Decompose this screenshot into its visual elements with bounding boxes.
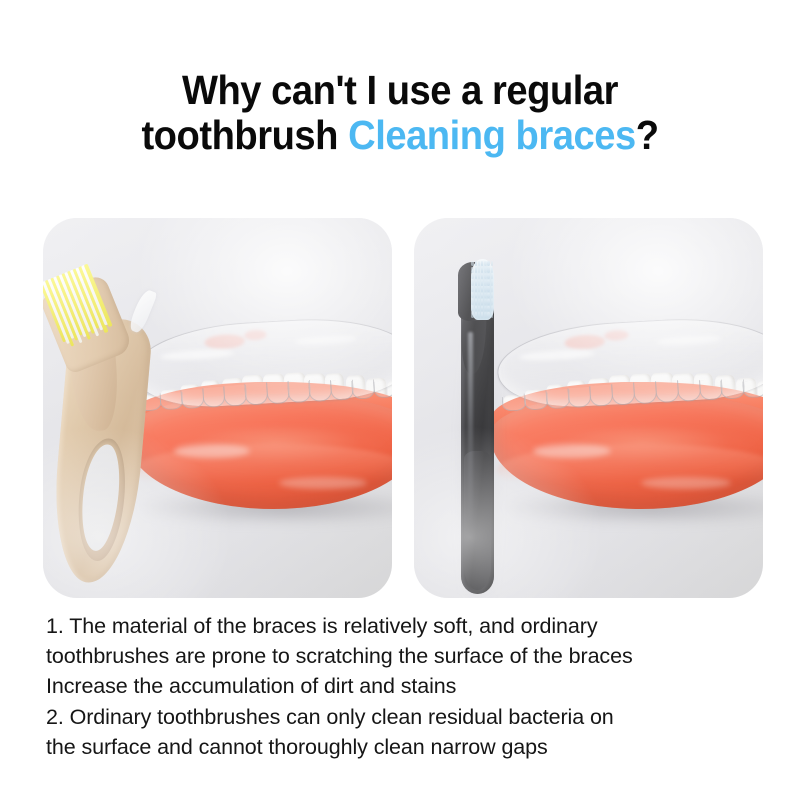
black-toothbrush-bristle xyxy=(484,293,486,299)
aligner-scallop xyxy=(698,379,722,401)
black-toothbrush-bristle xyxy=(475,312,477,318)
tooth xyxy=(566,380,589,434)
black-toothbrush-bristle xyxy=(481,274,483,280)
denture-brush-bristle xyxy=(50,277,78,341)
denture-brush-bristles xyxy=(43,263,114,350)
denture-brush-bristle xyxy=(43,282,66,342)
denture-brush-end-tuft xyxy=(127,288,157,334)
black-toothbrush-bristle xyxy=(481,261,483,267)
teeth-arch xyxy=(498,366,763,439)
page-title: Why can't I use a regular toothbrush Cle… xyxy=(0,68,800,158)
black-toothbrush-bristle xyxy=(471,312,473,318)
dental-model-right xyxy=(491,321,763,526)
tooth xyxy=(608,375,633,433)
description-line-5: the surface and cannot thoroughly clean … xyxy=(46,732,776,762)
photo-panel-row xyxy=(43,218,763,598)
black-toothbrush-bristle xyxy=(487,267,489,273)
gum-specular-2 xyxy=(641,477,731,489)
black-toothbrush-bristle xyxy=(487,293,489,299)
black-toothbrush-bristle xyxy=(471,299,473,305)
description-line-3: Increase the accumulation of dirt and st… xyxy=(46,671,776,701)
tooth xyxy=(139,394,160,433)
description-line-4: 2. Ordinary toothbrushes can only clean … xyxy=(46,702,776,732)
aligner-scallop xyxy=(330,379,354,401)
black-toothbrush-bristle xyxy=(475,293,477,299)
tooth xyxy=(587,377,612,433)
panel-sheen xyxy=(414,218,763,598)
tooth xyxy=(693,373,716,427)
black-toothbrush-bristle xyxy=(484,274,486,280)
aligner-tint-2 xyxy=(243,329,266,340)
gum-trough xyxy=(168,427,385,468)
black-toothbrush-bristle xyxy=(471,280,473,286)
tooth xyxy=(159,389,181,434)
aligner-scallop xyxy=(201,386,225,408)
black-toothbrush-bristle xyxy=(481,312,483,318)
aligner-scallop xyxy=(655,379,680,402)
gum-base-rim xyxy=(133,444,392,497)
description-line-1: 1. The material of the braces is relativ… xyxy=(46,611,776,641)
black-toothbrush-bristle xyxy=(491,299,493,305)
denture-brush-bristle xyxy=(53,276,83,343)
black-toothbrush-bristle xyxy=(475,299,477,305)
black-toothbrush-bristle xyxy=(481,286,483,292)
description-text-block: 1. The material of the braces is relativ… xyxy=(46,611,776,762)
tooth xyxy=(262,373,287,432)
title-line-2-suffix: ? xyxy=(636,112,659,158)
black-toothbrush-head xyxy=(458,262,489,321)
left-photo-panel xyxy=(43,218,392,598)
black-toothbrush-bristle xyxy=(487,261,489,267)
black-toothbrush-bristle xyxy=(475,261,477,267)
model-shadow xyxy=(144,491,392,524)
aligner-tint-1 xyxy=(204,334,244,349)
black-toothbrush-bristle xyxy=(487,280,489,286)
black-toothbrush-bristle xyxy=(471,286,473,292)
black-toothbrush-bristle xyxy=(487,312,489,318)
tooth xyxy=(503,394,525,433)
tooth xyxy=(180,384,202,434)
denture-brush-bristle xyxy=(44,279,74,346)
black-toothbrush-bristle xyxy=(471,306,473,312)
aligner-gloss-1 xyxy=(160,347,234,361)
denture-brush-bristle xyxy=(81,264,108,324)
tooth xyxy=(200,380,222,434)
aligner-gloss-1 xyxy=(519,348,594,362)
model-shadow xyxy=(509,491,763,524)
gum-ridge xyxy=(127,382,392,444)
black-toothbrush-bristle xyxy=(478,267,480,273)
black-toothbrush-handle-taper xyxy=(464,451,492,591)
gum-specular-1 xyxy=(533,444,611,458)
aligner-gloss-2 xyxy=(657,334,721,346)
black-toothbrush-bristle xyxy=(471,293,473,299)
black-toothbrush-bristle xyxy=(484,299,486,305)
gum-base xyxy=(127,394,392,509)
denture-brush-handle xyxy=(48,315,153,586)
black-toothbrush-bristle xyxy=(484,261,486,267)
denture-brush-neck xyxy=(69,323,121,433)
aligner-scallop xyxy=(545,389,569,409)
denture-brush-head xyxy=(43,273,134,375)
denture-brush-bristle xyxy=(78,266,108,333)
black-toothbrush-bristle xyxy=(491,280,493,286)
title-line-1: Why can't I use a regular xyxy=(28,68,772,113)
product-info-graphic: Why can't I use a regular toothbrush Cle… xyxy=(0,0,800,800)
black-toothbrush-bristle xyxy=(484,267,486,273)
black-toothbrush-bristle xyxy=(475,286,477,292)
black-toothbrush-bristle xyxy=(481,299,483,305)
black-toothbrush-bristle xyxy=(481,306,483,312)
description-line-2: toothbrushes are prone to scratching the… xyxy=(46,641,776,671)
black-toothbrush-bristle xyxy=(491,274,493,280)
black-toothbrush-bristle xyxy=(491,267,493,273)
aligner-scallop xyxy=(524,392,548,410)
denture-brush-bristle xyxy=(47,278,74,338)
black-toothbrush-bristle xyxy=(475,274,477,280)
aligner-tint-2 xyxy=(604,329,628,340)
denture-brush-bristle xyxy=(73,268,100,328)
black-toothbrush-bristle xyxy=(475,280,477,286)
tooth xyxy=(366,377,388,422)
black-toothbrush-bristle xyxy=(487,299,489,305)
gum-trough xyxy=(533,427,755,468)
aligner-tint-1 xyxy=(564,334,605,349)
black-toothbrush-bristle xyxy=(481,267,483,273)
black-toothbrush-bristle xyxy=(481,280,483,286)
aligner-body xyxy=(131,313,392,411)
denture-brush-handle-hole xyxy=(72,435,131,563)
aligner-gloss-2 xyxy=(295,334,357,346)
black-toothbrush-bristle xyxy=(487,286,489,292)
title-accent-text: Cleaning braces xyxy=(348,112,636,158)
black-toothbrush-bristle xyxy=(484,280,486,286)
aligner-body xyxy=(495,313,763,411)
clear-aligner xyxy=(131,313,392,411)
black-toothbrush-gloss xyxy=(468,332,473,528)
denture-brush-bristle xyxy=(70,269,100,336)
black-toothbrush-bristle xyxy=(478,293,480,299)
title-line-2: toothbrush Cleaning braces? xyxy=(28,113,772,158)
dental-model-left xyxy=(127,321,392,526)
denture-brush-bristle xyxy=(75,267,103,331)
tooth xyxy=(629,373,654,432)
tooth xyxy=(736,377,758,422)
black-toothbrush-bristle xyxy=(471,274,473,280)
black-toothbrush-bristle xyxy=(491,286,493,292)
gum-specular-2 xyxy=(279,477,367,489)
panel-sheen xyxy=(43,218,392,598)
denture-brush-handle-hole-inner xyxy=(77,442,124,553)
black-toothbrush-bristles xyxy=(471,259,495,320)
black-toothbrush-bristle xyxy=(491,306,493,312)
denture-brush-bristle xyxy=(43,280,70,344)
gum-base xyxy=(491,394,763,509)
black-toothbrush-bristle xyxy=(478,261,480,267)
black-toothbrush-bristle xyxy=(481,293,483,299)
aligner-scallop xyxy=(742,380,763,398)
aligner-scallop xyxy=(287,380,311,403)
aligner-scallop xyxy=(308,379,332,402)
aligner-scallop xyxy=(180,389,204,409)
denture-brush-bristle xyxy=(64,271,91,331)
tooth xyxy=(757,380,763,419)
tooth xyxy=(545,384,567,434)
black-toothbrush-bristle xyxy=(478,306,480,312)
black-toothbrush-bristle xyxy=(478,286,480,292)
aligner-scallop xyxy=(589,384,613,407)
tooth xyxy=(283,373,308,431)
tooth xyxy=(324,373,346,427)
tooth xyxy=(345,375,367,425)
black-toothbrush-bristle xyxy=(484,286,486,292)
aligner-scallop xyxy=(720,379,744,399)
aligner-scallop xyxy=(351,379,375,399)
black-toothbrush-bristle xyxy=(475,267,477,273)
clear-aligner xyxy=(495,313,763,411)
denture-brush-bristle xyxy=(61,272,91,339)
black-toothbrush-neck xyxy=(460,282,488,374)
tooth xyxy=(524,389,546,434)
black-toothbrush-bristle xyxy=(478,280,480,286)
gum-ridge xyxy=(491,382,763,444)
denture-brush xyxy=(50,267,162,582)
title-line-2-prefix: toothbrush xyxy=(141,112,348,158)
tooth xyxy=(303,373,328,429)
denture-brush-bristle xyxy=(67,270,95,334)
black-toothbrush-bristle xyxy=(478,274,480,280)
black-toothbrush-bristle xyxy=(484,306,486,312)
black-toothbrush-bristle xyxy=(478,312,480,318)
right-photo-panel xyxy=(414,218,763,598)
tooth xyxy=(221,377,246,433)
tooth xyxy=(387,380,392,419)
aligner-scallop xyxy=(244,382,268,405)
aligner-scallop xyxy=(138,395,162,411)
black-toothbrush-bristle xyxy=(484,312,486,318)
black-toothbrush-bristle xyxy=(487,306,489,312)
black-toothbrush-bristle xyxy=(471,261,473,267)
aligner-scallop xyxy=(611,382,636,405)
tooth xyxy=(241,375,266,433)
aligner-scallop xyxy=(502,395,526,411)
black-toothbrush-bristle xyxy=(478,299,480,305)
tooth xyxy=(650,372,675,430)
black-toothbrush-shadow xyxy=(458,297,500,594)
black-toothbrush xyxy=(424,241,564,591)
aligner-scallop xyxy=(223,384,247,407)
aligner-scallop xyxy=(159,392,183,410)
aligner-scallop xyxy=(567,386,591,408)
teeth-arch xyxy=(134,366,392,439)
gum-base-rim xyxy=(497,444,763,497)
aligner-scallop xyxy=(676,379,700,402)
gum-specular-1 xyxy=(174,444,250,458)
tooth xyxy=(672,372,697,428)
aligner-scallop xyxy=(265,381,289,405)
aligner-scallop xyxy=(633,381,658,405)
black-toothbrush-bristle xyxy=(491,261,493,267)
black-toothbrush-bristle xyxy=(471,267,473,273)
tooth xyxy=(714,375,736,425)
black-toothbrush-bristle xyxy=(487,274,489,280)
black-toothbrush-bristle xyxy=(475,306,477,312)
black-toothbrush-bristle xyxy=(491,312,493,318)
aligner-scallop xyxy=(372,380,392,398)
denture-brush-bristle xyxy=(56,275,83,335)
denture-brush-bristle xyxy=(84,263,112,327)
denture-brush-bristle xyxy=(59,274,87,338)
black-toothbrush-bristle xyxy=(491,293,493,299)
black-toothbrush-handle xyxy=(461,293,495,594)
